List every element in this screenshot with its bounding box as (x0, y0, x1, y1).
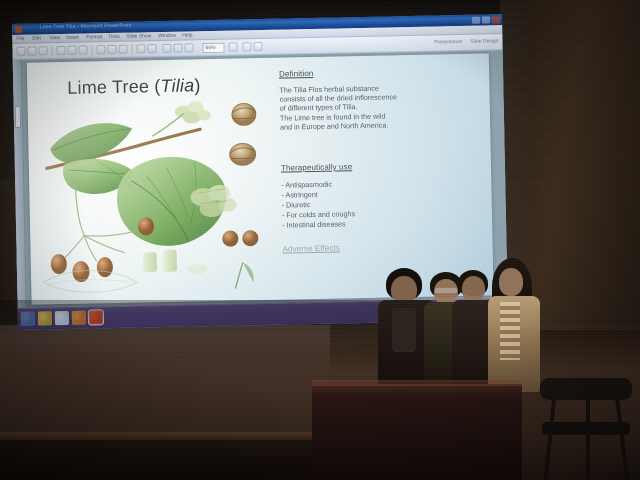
menu-item-format[interactable]: Format (86, 34, 102, 40)
preview-icon[interactable] (67, 46, 76, 55)
paste-icon[interactable] (118, 45, 127, 54)
student-4 (486, 258, 542, 392)
therapeutic-bullet-list: - Antispasmodic - Astringent - Diuretic … (281, 177, 478, 231)
zoom-input[interactable]: 66% (202, 43, 224, 53)
definition-paragraph: The Tilia Flos herbal substance consists… (279, 82, 476, 132)
toolbar-divider (51, 46, 52, 56)
new-icon[interactable] (16, 47, 25, 56)
slide-canvas[interactable]: Lime Tree (Tilia) (27, 53, 494, 304)
slide-thumbnail-1[interactable] (15, 106, 21, 128)
insert-chart-icon[interactable] (173, 44, 182, 53)
spellcheck-icon[interactable] (78, 45, 87, 54)
heading-adverse-effects: Adverse Effects (282, 241, 478, 254)
open-icon[interactable] (27, 47, 36, 56)
folding-chair (534, 378, 638, 480)
undo-icon[interactable] (136, 44, 145, 53)
print-icon[interactable] (56, 46, 65, 55)
help-icon[interactable] (228, 42, 237, 51)
botanical-plate-tilia (33, 92, 269, 297)
copy-icon[interactable] (107, 45, 116, 54)
cut-icon[interactable] (96, 45, 105, 54)
powerpoint-icon (15, 26, 22, 33)
menu-item-slideshow[interactable]: Slide Show (126, 33, 151, 40)
menu-item-help[interactable]: Help (182, 32, 192, 38)
floor (0, 440, 330, 480)
toolbar-divider (131, 45, 132, 55)
chair-leg (544, 396, 557, 480)
wall-lower-left (0, 325, 330, 435)
toolbar-right-labels[interactable]: Presentation Slide Design (434, 38, 498, 45)
chair-leg (615, 396, 629, 480)
menu-item-window[interactable]: Window (158, 33, 176, 39)
close-icon[interactable] (492, 16, 500, 23)
chair-leg (586, 396, 590, 480)
redo-icon[interactable] (147, 44, 156, 53)
window-title: Lime Tree Tilia - Microsoft PowerPoint (40, 23, 132, 31)
insert-table-icon[interactable] (162, 44, 171, 53)
window-controls[interactable] (472, 16, 500, 24)
hyperlink-icon[interactable] (184, 43, 193, 52)
save-icon[interactable] (38, 46, 47, 55)
podium (312, 384, 522, 480)
label-presentation[interactable]: Presentation (434, 39, 462, 46)
menu-item-file[interactable]: File (16, 36, 24, 42)
maximize-icon[interactable] (482, 16, 490, 23)
label-slide-design[interactable]: Slide Design (470, 38, 498, 45)
lecture-hall-scene: Lime Tree Tilia - Microsoft PowerPoint F… (0, 0, 640, 480)
grid-icon[interactable] (242, 42, 251, 51)
minimize-icon[interactable] (472, 17, 480, 24)
heading-definition: Definition (279, 66, 475, 79)
toolbar-divider (91, 45, 92, 55)
menu-item-insert[interactable]: Insert (66, 35, 79, 41)
slide-text-column: Definition The Tilia Flos herbal substan… (279, 66, 479, 254)
slide-thumbnail-pane[interactable] (13, 60, 27, 308)
menu-item-tools[interactable]: Tools (108, 34, 120, 40)
menu-item-edit[interactable]: Edit (32, 35, 41, 41)
shapes-icon[interactable] (253, 42, 262, 51)
heading-therapeutically-use: Therapeutically use (281, 160, 477, 173)
menu-item-view[interactable]: View (49, 35, 60, 41)
